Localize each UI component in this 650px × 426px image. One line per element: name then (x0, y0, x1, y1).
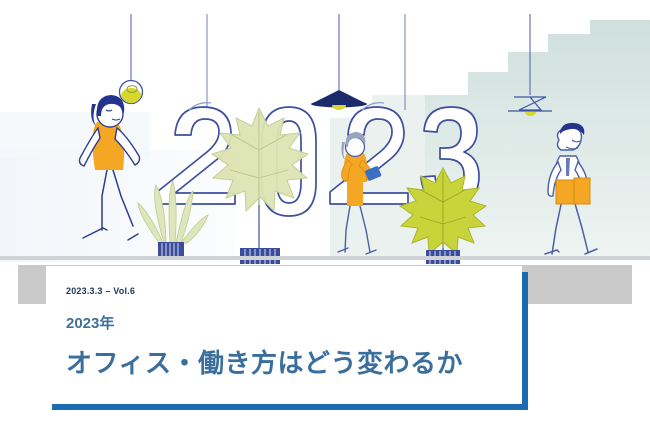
folder-right (574, 178, 590, 204)
year-label: 2023年 (66, 312, 522, 333)
newsletter-cover: 2023.3.3 – Vol.6 2023年 オフィス・働き方はどう変わるか (0, 0, 650, 426)
folder-left (556, 180, 574, 204)
headline-card: 2023.3.3 – Vol.6 2023年 オフィス・働き方はどう変わるか (46, 266, 522, 404)
hero-illustration (0, 0, 650, 272)
page-title: オフィス・働き方はどう変わるか (66, 343, 522, 380)
trousers (347, 180, 363, 206)
issue-date-volume: 2023.3.3 – Vol.6 (66, 286, 522, 296)
illustration-canvas (0, 0, 650, 272)
